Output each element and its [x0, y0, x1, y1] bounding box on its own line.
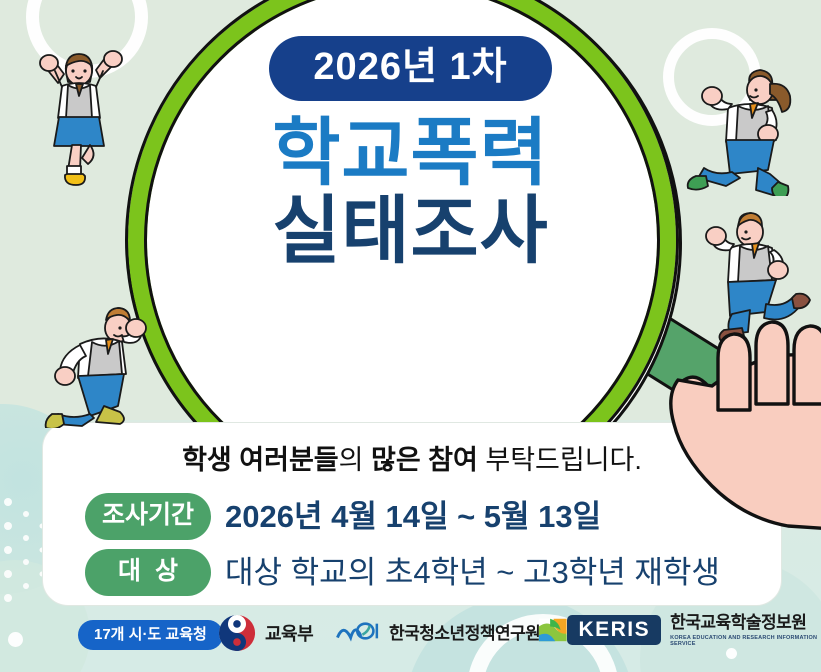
offices-badge: 17개 시·도 교육청	[78, 620, 223, 650]
message-light-1: 의	[339, 445, 371, 475]
nypi-mark-icon	[336, 618, 380, 644]
info-row-target: 대상 대상 학교의 초4학년 ~ 고3학년 재학생	[85, 549, 720, 596]
keris-mark-icon	[538, 614, 567, 646]
moe-label: 교육부	[265, 620, 313, 646]
message-bold-1: 학생 여러분들	[182, 445, 339, 475]
keris-name-block: 한국교육학술정보원 KOREA EDUCATION AND RESEARCH I…	[670, 614, 821, 647]
keris-logo: KERIS 한국교육학술정보원 KOREA EDUCATION AND RESE…	[538, 614, 821, 647]
info-row-period: 조사기간 2026년 4월 14일 ~ 5월 13일	[85, 493, 720, 540]
student-walking-illustration	[22, 288, 162, 428]
headline-block: 2026년 1차 학교폭력 실태조사	[0, 0, 821, 269]
value-survey-period: 2026년 4월 14일 ~ 5월 13일	[225, 501, 601, 532]
info-rows: 조사기간 2026년 4월 14일 ~ 5월 13일 대상 대상 학교의 초4학…	[85, 493, 720, 605]
keris-korean-name: 한국교육학술정보원	[670, 614, 821, 633]
poster-title: 학교폭력 실태조사	[0, 115, 821, 269]
label-target: 대상	[85, 549, 211, 596]
taegeuk-icon	[218, 614, 256, 652]
nypi-label: 한국청소년정책연구원	[389, 619, 540, 644]
edition-badge: 2026년 1차	[269, 36, 551, 101]
hand-illustration	[660, 300, 821, 530]
poster-banner: 2026년 1차 학교폭력 실태조사 학생 여러분들의 많은 참여 부탁드립니다…	[0, 0, 821, 672]
keris-english-name: KOREA EDUCATION AND RESEARCH INFORMATION…	[670, 635, 821, 647]
message-bold-2: 많은 참여	[371, 445, 478, 475]
title-line-2: 실태조사	[0, 193, 821, 269]
footer-logos: 17개 시·도 교육청 교육부 한국청소년정책연구원	[0, 612, 821, 658]
keris-wordmark: KERIS	[567, 615, 661, 645]
value-target: 대상 학교의 초4학년 ~ 고3학년 재학생	[225, 557, 720, 588]
moe-logo: 교육부	[218, 614, 313, 652]
label-survey-period: 조사기간	[85, 493, 211, 540]
nypi-logo: 한국청소년정책연구원	[336, 618, 540, 644]
title-line-1: 학교폭력	[0, 115, 821, 191]
message-light-2: 부탁드립니다.	[478, 445, 642, 475]
offices-pill-label: 17개 시·도 교육청	[78, 620, 223, 650]
